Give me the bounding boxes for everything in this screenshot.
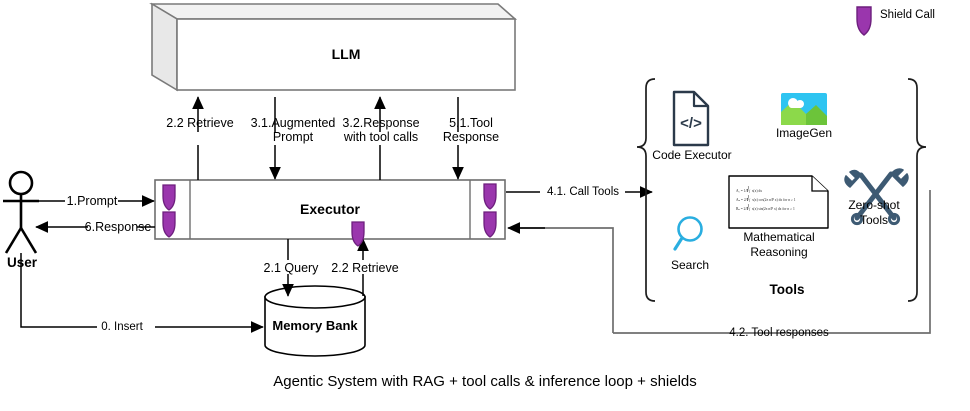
tools-brace-right: [908, 79, 926, 301]
legend-shield-icon: [857, 7, 871, 35]
llm-label: LLM: [226, 47, 466, 61]
user-figure: [3, 172, 39, 253]
edge-label-query: 2.1 Query: [259, 261, 323, 275]
shield-icon-right-bottom: [484, 212, 496, 237]
code-file-icon: </>: [674, 92, 708, 145]
edge-label-response: 6.Response: [80, 220, 156, 234]
edge-label-tool-response: 3.2.Response with tool calls: [339, 116, 423, 144]
shield-icon-right-top: [484, 184, 496, 209]
edge-label-insert: 0. Insert: [92, 320, 152, 334]
shield-icon-center: [352, 222, 364, 246]
diagram-canvas: </> A₀ = 1/P ∫ s(x) dx Aₙ = 2/P ∫ s(x) c…: [0, 0, 970, 411]
tool-label-search: Search: [661, 258, 719, 272]
math-document-icon: A₀ = 1/P ∫ s(x) dx Aₙ = 2/P ∫ s(x) cos(2…: [729, 176, 828, 228]
edge-label-response-tool-calls: 3.1.Augmented Prompt: [233, 116, 353, 144]
edge-label-retrieve: 2.2 Retrieve: [327, 261, 403, 275]
diagram-caption: Agentic System with RAG + tool calls & i…: [0, 375, 970, 389]
edge-label-synthesized-response: 5.1.Tool Response: [413, 116, 529, 144]
magnifier-icon: [675, 218, 702, 250]
svg-text:Aₙ = 2/P ∫ s(x) cos(2π n/P: Aₙ = 2/P ∫ s(x) cos(2π n/P x) dx for n ≥…: [736, 198, 796, 202]
tool-label-math-reasoning: Mathematical Reasoning: [729, 230, 829, 260]
image-icon: [781, 93, 827, 125]
edge-label-prompt: 1.Prompt: [62, 194, 122, 208]
edge-label-tool-responses: 4.2. Tool responses: [718, 326, 840, 340]
svg-text:Bₙ = 2/P ∫ s(x) sin(2π n/P: Bₙ = 2/P ∫ s(x) sin(2π n/P x) dx for n ≥…: [736, 207, 795, 211]
tools-brace-left: [637, 79, 655, 301]
svg-text:A₀ = 1/P ∫ s(x) dx: A₀ = 1/P ∫ s(x) dx: [736, 189, 762, 193]
memory-bank-label: Memory Bank: [255, 319, 375, 333]
legend-label: Shield Call: [880, 8, 964, 22]
tool-label-imagegen: ImageGen: [772, 126, 836, 140]
edge-label-call-tools: 4.1. Call Tools: [540, 185, 626, 199]
tools-group-label: Tools: [742, 283, 832, 297]
insert-edge: [21, 253, 263, 327]
tool-label-code-executor: Code Executor: [648, 148, 736, 162]
shield-icon-left-top: [163, 185, 175, 210]
executor-label: Executor: [250, 202, 410, 216]
svg-text:</>: </>: [680, 115, 702, 132]
shield-icon-left-bottom: [163, 212, 175, 237]
user-label: User: [0, 256, 44, 270]
tool-label-zero-shot-tools: Zero-shot Tools: [840, 198, 908, 228]
